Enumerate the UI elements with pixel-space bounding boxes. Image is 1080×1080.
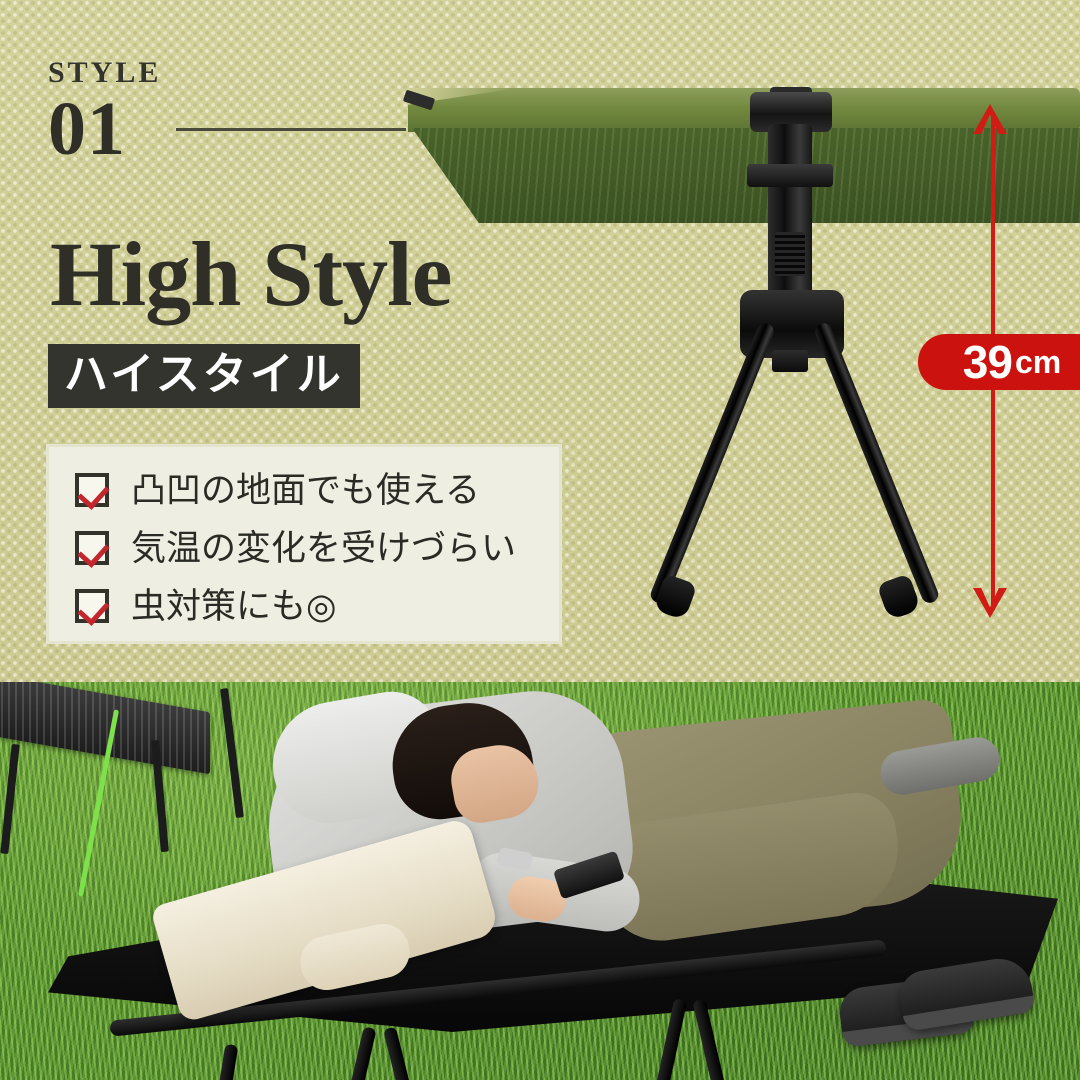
hub-center-foot [772, 350, 808, 372]
list-item: 虫対策にも◎ [75, 577, 559, 635]
leg-left [648, 321, 776, 606]
feature-text: 虫対策にも◎ [131, 589, 337, 624]
list-item: 凸凹の地面でも使える [75, 461, 559, 519]
checkmark-icon [75, 589, 109, 623]
list-item: 気温の変化を受けづらい [75, 519, 559, 577]
style-number: 01 [48, 92, 161, 166]
measurement-unit: cm [1015, 346, 1061, 378]
measurement-badge: 39 cm [918, 334, 1080, 390]
style-label: STYLE [48, 58, 161, 88]
leg-adjust-knob [747, 164, 833, 187]
checkmark-icon [75, 473, 109, 507]
feature-text: 気温の変化を受けづらい [131, 531, 516, 566]
feature-checklist-panel: 凸凹の地面でも使える 気温の変化を受けづらい 虫対策にも◎ [46, 444, 562, 644]
subtitle-badge: ハイスタイル [48, 344, 360, 408]
style-divider-rule [176, 128, 406, 131]
feature-text: 凸凹の地面でも使える [131, 473, 480, 508]
leg-post [768, 124, 812, 304]
product-ad-page: STYLE 01 High Style ハイスタイル 凸凹の地面でも使える 気温… [0, 0, 1080, 1080]
checkmark-icon [75, 531, 109, 565]
tripod-leg-assembly [620, 92, 960, 622]
leg-ribbed-section [775, 232, 805, 276]
style-number-block: STYLE 01 [48, 58, 161, 166]
measurement-value: 39 [963, 339, 1012, 385]
lifestyle-photo [0, 682, 1080, 1080]
page-title: High Style [50, 228, 451, 320]
arrow-down-icon [973, 588, 1007, 618]
top-info-panel: STYLE 01 High Style ハイスタイル 凸凹の地面でも使える 気温… [0, 0, 1080, 682]
